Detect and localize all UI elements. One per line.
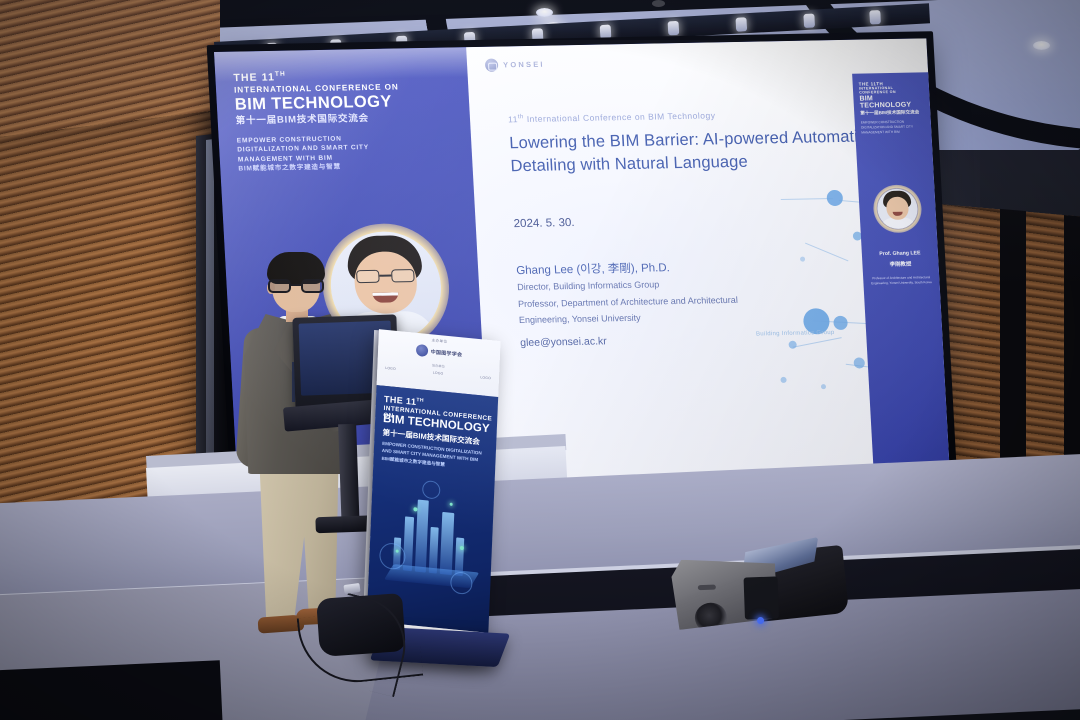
slide-title: Lowering the BIM Barrier: AI-powered Aut… — [509, 125, 892, 179]
monitor-speaker-cone — [694, 602, 727, 633]
conference-photo-scene: THE 11TH INTERNATIONAL CONFERENCE ON BIM… — [0, 0, 1080, 720]
conference-title-block: THE 11TH INTERNATIONAL CONFERENCE ON BIM… — [233, 68, 449, 175]
stage-monitor-wedge — [671, 546, 794, 636]
downlight — [652, 0, 665, 7]
speaker-glasses-icon — [268, 279, 324, 293]
rollup-host-name: 中国图学学会 — [431, 348, 463, 358]
conference-name: BIM TECHNOLOGY — [234, 92, 445, 114]
network-graphic-label: Building Informatics Group — [756, 330, 835, 337]
edge-banner-name-en: Prof. Ghang LEE — [862, 250, 938, 257]
rail-light — [668, 21, 680, 36]
edge-banner-line-3: BIM TECHNOLOGY — [859, 94, 924, 109]
slide-date: 2024. 5. 30. — [513, 217, 574, 230]
rollup-edition-sup: TH — [416, 397, 424, 404]
rail-light — [735, 17, 747, 32]
rail-light — [869, 10, 881, 25]
edge-banner-role: Professor of Architecture and Architectu… — [869, 275, 934, 285]
edge-banner-sub: EMPOWER CONSTRUCTION DIGITALIZATION AND … — [861, 119, 926, 135]
edge-banner-line-4: 第十一届BIM技术国际交流会 — [860, 109, 924, 116]
edge-banner-header: THE 11TH INTERNATIONAL CONFERENCE ON BIM… — [852, 72, 931, 135]
eyebrow-number: 11 — [508, 114, 518, 124]
conference-theme: EMPOWER CONSTRUCTION DIGITALIZATION AND … — [237, 132, 449, 174]
smart-city-illustration — [388, 483, 478, 595]
monitor-back-plate — [744, 576, 779, 619]
edge-banner-name-cn: 李刚教授 — [862, 259, 938, 268]
downlight — [1033, 41, 1050, 50]
edge-banner-line-2: INTERNATIONAL CONFERENCE ON — [859, 85, 923, 94]
portrait-glasses-icon — [356, 269, 415, 283]
eyebrow-rest: International Conference on BIM Technolo… — [524, 110, 716, 124]
lectern-column — [338, 424, 360, 529]
floor-dark-strip — [0, 660, 222, 720]
rail-light — [803, 13, 815, 28]
conference-name-cn: 第十一届BIM技术国际交流会 — [236, 112, 447, 127]
monitor-power-led — [757, 617, 764, 624]
slide-eyebrow: 11th International Conference on BIM Tec… — [508, 110, 716, 124]
sponsor-logo: LOGO — [480, 375, 491, 380]
host-emblem-icon — [415, 344, 427, 357]
sponsor-logo: LOGO — [385, 366, 396, 371]
monitor-handle — [698, 585, 716, 591]
sponsor-logo: LOGO — [433, 371, 444, 376]
downlight — [536, 8, 553, 17]
